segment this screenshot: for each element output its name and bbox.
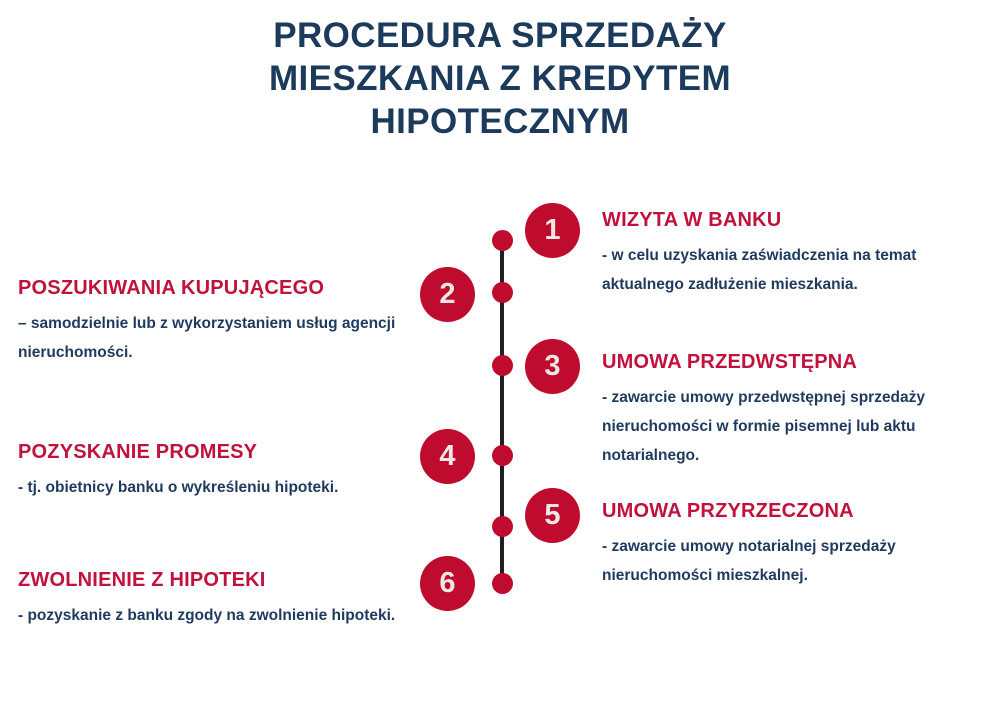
step-badge-4-number: 4 xyxy=(439,442,455,471)
step-badge-6[interactable]: 6 xyxy=(420,556,475,611)
step-3-body: - zawarcie umowy przedwstępnej sprzedaży… xyxy=(602,383,982,470)
step-item-3: UMOWA PRZEDWSTĘPNA - zawarcie umowy prze… xyxy=(602,350,982,470)
step-badge-4[interactable]: 4 xyxy=(420,429,475,484)
step-badge-2[interactable]: 2 xyxy=(420,267,475,322)
step-1-body: - w celu uzyskania zaświadczenia na tema… xyxy=(602,241,982,299)
timeline-dot-5 xyxy=(492,516,513,537)
step-2-body: – samodzielnie lub z wykorzystaniem usłu… xyxy=(18,309,418,367)
step-3-heading: UMOWA PRZEDWSTĘPNA xyxy=(602,350,982,374)
step-item-2: POSZUKIWANIA KUPUJĄCEGO – samodzielnie l… xyxy=(18,276,418,367)
step-badge-2-number: 2 xyxy=(439,280,455,309)
page-title-line-2: MIESZKANIA Z KREDYTEM xyxy=(0,57,1000,100)
step-5-body: - zawarcie umowy notarialnej sprzedaży n… xyxy=(602,532,982,590)
step-4-body: - tj. obietnicy banku o wykreśleniu hipo… xyxy=(18,473,418,502)
page-title-line-3: HIPOTECZNYM xyxy=(0,100,1000,143)
step-2-heading: POSZUKIWANIA KUPUJĄCEGO xyxy=(18,276,418,300)
step-badge-5[interactable]: 5 xyxy=(525,488,580,543)
page-title-line-1: PROCEDURA SPRZEDAŻY xyxy=(0,14,1000,57)
step-badge-5-number: 5 xyxy=(544,501,560,530)
timeline-dot-3 xyxy=(492,355,513,376)
step-5-heading: UMOWA PRZYRZECZONA xyxy=(602,499,982,523)
step-6-body: - pozyskanie z banku zgody na zwolnienie… xyxy=(18,601,403,630)
step-4-heading: POZYSKANIE PROMESY xyxy=(18,440,418,464)
step-badge-1-number: 1 xyxy=(544,216,560,245)
step-item-4: POZYSKANIE PROMESY - tj. obietnicy banku… xyxy=(18,440,418,502)
timeline-dot-1 xyxy=(492,230,513,251)
timeline-dot-6 xyxy=(492,573,513,594)
step-item-5: UMOWA PRZYRZECZONA - zawarcie umowy nota… xyxy=(602,499,982,590)
step-badge-3[interactable]: 3 xyxy=(525,339,580,394)
step-badge-1[interactable]: 1 xyxy=(525,203,580,258)
step-badge-6-number: 6 xyxy=(439,569,455,598)
step-item-1: WIZYTA W BANKU - w celu uzyskania zaświa… xyxy=(602,208,982,299)
step-item-6: ZWOLNIENIE Z HIPOTEKI - pozyskanie z ban… xyxy=(18,568,403,630)
step-1-heading: WIZYTA W BANKU xyxy=(602,208,982,232)
step-badge-3-number: 3 xyxy=(544,352,560,381)
timeline-dot-4 xyxy=(492,445,513,466)
page-title: PROCEDURA SPRZEDAŻY MIESZKANIA Z KREDYTE… xyxy=(0,14,1000,143)
timeline-dot-2 xyxy=(492,282,513,303)
step-6-heading: ZWOLNIENIE Z HIPOTEKI xyxy=(18,568,403,592)
